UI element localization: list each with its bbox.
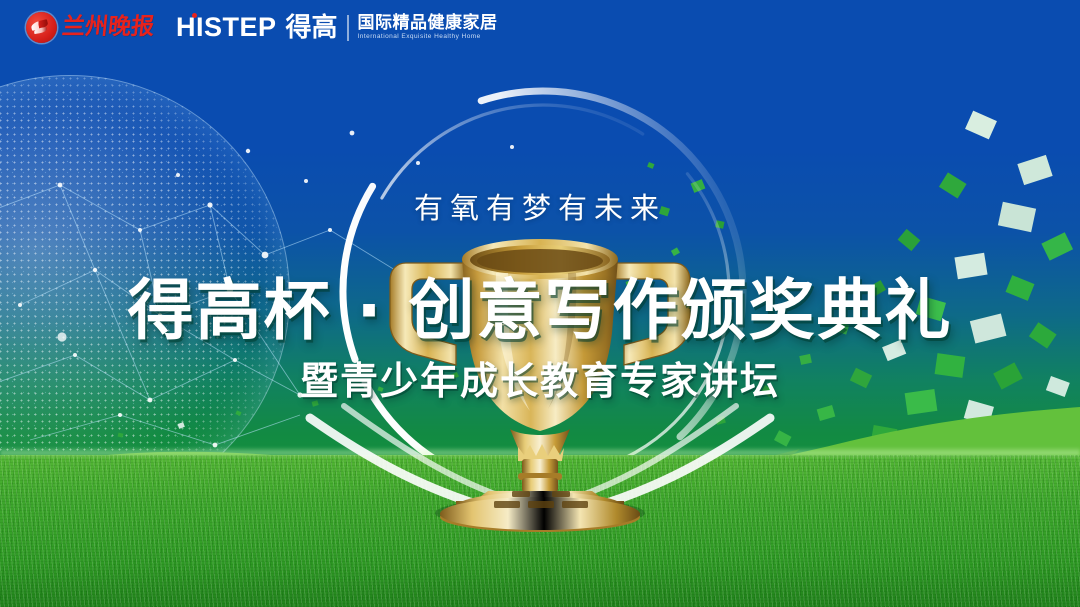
histep-tagline-en: International Exquisite Healthy Home bbox=[358, 34, 498, 41]
histep-brand-latin: HISTEP bbox=[176, 12, 277, 42]
event-tagline: 有氧有梦有未来 bbox=[0, 185, 1080, 227]
lanzhou-evening-news-emblem-icon bbox=[26, 12, 57, 43]
histep-tagline-block: 国际精品健康家居 International Exquisite Healthy… bbox=[358, 15, 498, 40]
histep-brand-cn: 得高 bbox=[286, 15, 338, 41]
histep-red-dot-icon bbox=[192, 13, 197, 18]
page-title: 得高杯 · 创意写作颁奖典礼 bbox=[0, 278, 1080, 344]
event-poster: 兰州晚报 HISTEP 得高 国际精品健康家居 International Ex… bbox=[0, 0, 1080, 607]
sponsor-divider bbox=[347, 15, 349, 41]
sponsor-logo-histep: HISTEP 得高 国际精品健康家居 International Exquisi… bbox=[176, 14, 498, 41]
histep-tagline-cn: 国际精品健康家居 bbox=[358, 15, 498, 33]
sponsor-logo-lanzhou-evening-news: 兰州晚报 bbox=[26, 12, 154, 43]
sponsor-bar: 兰州晚报 HISTEP 得高 国际精品健康家居 International Ex… bbox=[0, 0, 1080, 55]
event-subtitle: 暨青少年成长教育专家讲坛 bbox=[0, 362, 1080, 400]
histep-wordmark: HISTEP bbox=[176, 14, 277, 41]
sponsor-name-lanzhou: 兰州晚报 bbox=[61, 16, 155, 39]
